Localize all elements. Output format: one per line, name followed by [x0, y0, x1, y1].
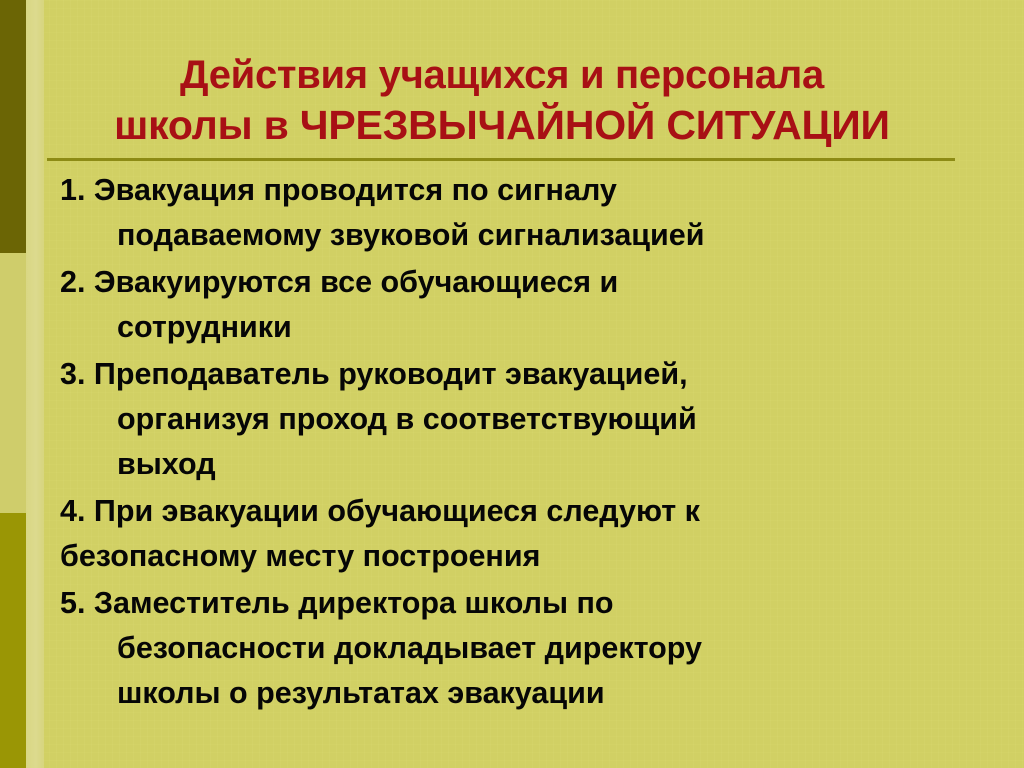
left-band-segment-middle — [0, 253, 26, 513]
slide-body-list: 1. Эвакуация проводится по сигналу подав… — [60, 168, 980, 718]
left-decorative-band — [0, 0, 26, 768]
left-inner-stripe — [26, 0, 44, 768]
list-item-line: организуя проход в соответствующий — [60, 397, 980, 442]
left-band-segment-bottom — [0, 513, 26, 768]
list-item: 3. Преподаватель руководит эвакуацией, о… — [60, 352, 980, 487]
list-item: 5. Заместитель директора школы по безопа… — [60, 581, 980, 716]
slide-title-line-1: Действия учащихся и персонала — [44, 50, 960, 100]
slide-title: Действия учащихся и персонала школы в ЧР… — [44, 50, 960, 150]
list-item-line: 3. Преподаватель руководит эвакуацией, — [60, 352, 980, 397]
list-item-line: выход — [60, 442, 980, 487]
left-band-segment-top — [0, 0, 26, 253]
list-item-line: 5. Заместитель директора школы по — [60, 581, 980, 626]
list-item-line: сотрудники — [60, 305, 980, 350]
list-item-line: подаваемому звуковой сигнализацией — [60, 213, 980, 258]
slide-title-line-2: школы в ЧРЕЗВЫЧАЙНОЙ СИТУАЦИИ — [44, 100, 960, 150]
title-divider-rule — [47, 158, 955, 161]
slide-canvas: Действия учащихся и персонала школы в ЧР… — [0, 0, 1024, 768]
list-item-line: 1. Эвакуация проводится по сигналу — [60, 168, 980, 213]
list-item-line: 2. Эвакуируются все обучающиеся и — [60, 260, 980, 305]
list-item: 2. Эвакуируются все обучающиеся и сотруд… — [60, 260, 980, 350]
list-item-line: 4. При эвакуации обучающиеся следуют к — [60, 489, 980, 534]
list-item-line: безопасности докладывает директору — [60, 626, 980, 671]
list-item-line: школы о результатах эвакуации — [60, 671, 980, 716]
list-item-line: безопасному месту построения — [60, 534, 980, 579]
list-item: 4. При эвакуации обучающиеся следуют к б… — [60, 489, 980, 579]
list-item: 1. Эвакуация проводится по сигналу подав… — [60, 168, 980, 258]
